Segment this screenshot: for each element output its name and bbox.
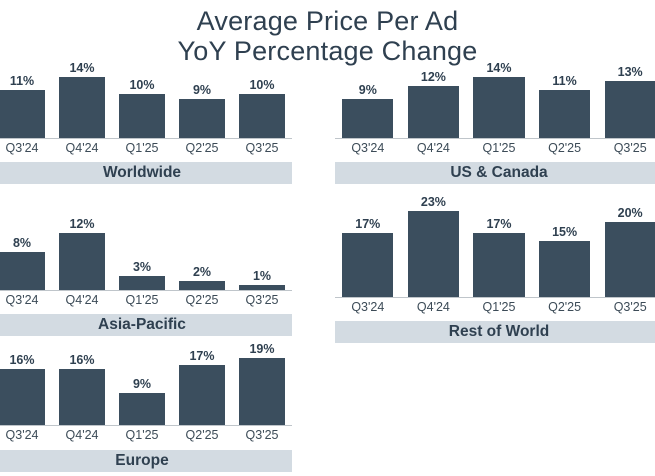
axis-line — [335, 138, 655, 139]
bar-value-label: 9% — [335, 83, 401, 97]
region-banner-rest-of-world: Rest of World — [335, 321, 655, 343]
bar-value-label: 23% — [401, 195, 467, 209]
bar-slot[interactable]: 16% — [52, 346, 112, 425]
bar-rect[interactable] — [119, 94, 166, 138]
x-tick-label: Q1'25 — [112, 140, 172, 156]
bar-slot[interactable]: 9% — [172, 66, 232, 138]
page-title: Average Price Per Ad YoY Percentage Chan… — [0, 6, 655, 66]
bar-value-label: 3% — [112, 260, 172, 274]
bar-slot[interactable]: 2% — [172, 212, 232, 290]
x-tick-label: Q2'25 — [172, 427, 232, 443]
plot-area-worldwide: 11% 14% 10% 9% 10% — [0, 66, 292, 138]
x-tick-label: Q3'24 — [0, 427, 52, 443]
bar-value-label: 17% — [335, 217, 401, 231]
x-tick-label: Q1'25 — [112, 427, 172, 443]
bar-slot[interactable]: 11% — [532, 66, 598, 138]
x-tick-label: Q3'24 — [0, 140, 52, 156]
bar-rect[interactable] — [179, 99, 226, 138]
axis-line — [0, 290, 292, 291]
bar-rect[interactable] — [473, 233, 524, 297]
bar-slot[interactable]: 9% — [335, 66, 401, 138]
bar-value-label: 10% — [112, 78, 172, 92]
region-banner-us-canada: US & Canada — [335, 162, 655, 184]
bar-value-label: 19% — [232, 342, 292, 356]
bar-value-label: 14% — [52, 61, 112, 75]
bar-value-label: 17% — [466, 217, 532, 231]
bar-rect[interactable] — [408, 211, 459, 297]
panel-rest-of-world: 17% 23% 17% 15% 20% — [335, 196, 655, 336]
bar-rect[interactable] — [539, 241, 590, 297]
region-banner-asia-pacific: Asia-Pacific — [0, 314, 292, 336]
x-tick-label: Q4'24 — [52, 427, 112, 443]
x-tick-label: Q3'25 — [597, 299, 655, 315]
axis-line — [335, 297, 655, 298]
x-tick-label: Q1'25 — [112, 292, 172, 308]
bar-rect[interactable] — [342, 233, 393, 297]
bar-value-label: 11% — [532, 74, 598, 88]
bar-slot[interactable]: 19% — [232, 346, 292, 425]
x-tick-label: Q4'24 — [52, 140, 112, 156]
bar-slot[interactable]: 3% — [112, 212, 172, 290]
bar-value-label: 16% — [52, 353, 112, 367]
chart-root: Average Price Per Ad YoY Percentage Chan… — [0, 0, 655, 476]
bar-slot[interactable]: 13% — [597, 66, 655, 138]
bar-rect[interactable] — [59, 369, 106, 425]
x-tick-label: Q2'25 — [172, 292, 232, 308]
bar-rect[interactable] — [0, 90, 45, 138]
bar-slot[interactable]: 17% — [172, 346, 232, 425]
bar-group-rest-of-world: 17% 23% 17% 15% 20% — [335, 196, 655, 297]
x-axis-tick-labels: Q3'24 Q4'24 Q1'25 Q2'25 Q3'25 — [0, 427, 292, 443]
bar-rect[interactable] — [0, 369, 45, 425]
bar-slot[interactable]: 11% — [0, 66, 52, 138]
bar-value-label: 8% — [0, 236, 52, 250]
x-tick-label: Q3'25 — [232, 292, 292, 308]
bar-rect[interactable] — [179, 365, 226, 425]
bar-value-label: 12% — [52, 217, 112, 231]
x-tick-label: Q2'25 — [532, 299, 598, 315]
bar-slot[interactable]: 14% — [466, 66, 532, 138]
axis-line — [0, 425, 292, 426]
bar-rect[interactable] — [119, 276, 166, 290]
region-banner-worldwide: Worldwide — [0, 162, 292, 184]
bar-rect[interactable] — [539, 90, 590, 138]
bar-slot[interactable]: 10% — [112, 66, 172, 138]
panel-asia-pacific: 8% 12% 3% 2% 1% — [0, 212, 292, 336]
bar-value-label: 20% — [597, 206, 655, 220]
bar-slot[interactable]: 8% — [0, 212, 52, 290]
bar-slot[interactable]: 14% — [52, 66, 112, 138]
x-tick-label: Q3'24 — [335, 299, 401, 315]
bar-slot[interactable]: 20% — [597, 196, 655, 297]
bar-rect[interactable] — [473, 77, 524, 138]
plot-area-europe: 16% 16% 9% 17% 19% — [0, 346, 292, 425]
bar-slot[interactable]: 10% — [232, 66, 292, 138]
bar-value-label: 15% — [532, 225, 598, 239]
x-axis-tick-labels: Q3'24 Q4'24 Q1'25 Q2'25 Q3'25 — [0, 292, 292, 308]
bar-group-us-canada: 9% 12% 14% 11% 13% — [335, 66, 655, 138]
plot-area-asia-pacific: 8% 12% 3% 2% 1% — [0, 212, 292, 290]
panel-worldwide: 11% 14% 10% 9% 10% — [0, 66, 292, 184]
region-banner-europe: Europe — [0, 450, 292, 472]
panel-europe: 16% 16% 9% 17% 19% — [0, 346, 292, 476]
axis-line — [0, 138, 292, 139]
bar-rect[interactable] — [342, 99, 393, 138]
bar-value-label: 13% — [597, 65, 655, 79]
bar-value-label: 12% — [401, 70, 467, 84]
x-tick-label: Q3'25 — [232, 427, 292, 443]
bar-rect[interactable] — [0, 252, 45, 290]
bar-slot[interactable]: 15% — [532, 196, 598, 297]
x-axis-tick-labels: Q3'24 Q4'24 Q1'25 Q2'25 Q3'25 — [0, 140, 292, 156]
panel-us-canada: 9% 12% 14% 11% 13% — [335, 66, 655, 184]
x-tick-label: Q2'25 — [532, 140, 598, 156]
bar-value-label: 2% — [172, 265, 232, 279]
bar-group-worldwide: 11% 14% 10% 9% 10% — [0, 66, 292, 138]
x-axis-tick-labels: Q3'24 Q4'24 Q1'25 Q2'25 Q3'25 — [335, 140, 655, 156]
bar-value-label: 17% — [172, 349, 232, 363]
bar-group-europe: 16% 16% 9% 17% 19% — [0, 346, 292, 425]
x-tick-label: Q3'25 — [597, 140, 655, 156]
bar-slot[interactable]: 23% — [401, 196, 467, 297]
bar-rect[interactable] — [605, 222, 655, 297]
bar-rect[interactable] — [239, 358, 286, 425]
bar-slot[interactable]: 12% — [52, 212, 112, 290]
bar-rect[interactable] — [179, 281, 226, 290]
bar-value-label: 16% — [0, 353, 52, 367]
bar-slot[interactable]: 1% — [232, 212, 292, 290]
bar-rect[interactable] — [408, 86, 459, 138]
x-axis-tick-labels: Q3'24 Q4'24 Q1'25 Q2'25 Q3'25 — [335, 299, 655, 315]
x-tick-label: Q4'24 — [401, 299, 467, 315]
x-tick-label: Q1'25 — [466, 299, 532, 315]
x-tick-label: Q2'25 — [172, 140, 232, 156]
plot-area-rest-of-world: 17% 23% 17% 15% 20% — [335, 196, 655, 297]
bar-rect[interactable] — [119, 393, 166, 425]
bar-value-label: 11% — [0, 74, 52, 88]
bar-slot[interactable]: 17% — [335, 196, 401, 297]
bar-slot[interactable]: 17% — [466, 196, 532, 297]
bar-value-label: 9% — [172, 83, 232, 97]
bar-rect[interactable] — [59, 77, 106, 138]
x-tick-label: Q3'24 — [335, 140, 401, 156]
bar-rect[interactable] — [605, 81, 655, 138]
bar-slot[interactable]: 9% — [112, 346, 172, 425]
x-tick-label: Q3'24 — [0, 292, 52, 308]
bar-slot[interactable]: 16% — [0, 346, 52, 425]
bar-rect[interactable] — [239, 94, 286, 138]
bar-value-label: 9% — [112, 377, 172, 391]
page-title-line-1: Average Price Per Ad — [0, 6, 655, 36]
bar-value-label: 14% — [466, 61, 532, 75]
x-tick-label: Q1'25 — [466, 140, 532, 156]
bar-value-label: 10% — [232, 78, 292, 92]
bar-slot[interactable]: 12% — [401, 66, 467, 138]
bar-rect[interactable] — [59, 233, 106, 290]
bar-group-asia-pacific: 8% 12% 3% 2% 1% — [0, 212, 292, 290]
x-tick-label: Q4'24 — [401, 140, 467, 156]
bar-value-label: 1% — [232, 269, 292, 283]
x-tick-label: Q4'24 — [52, 292, 112, 308]
x-tick-label: Q3'25 — [232, 140, 292, 156]
plot-area-us-canada: 9% 12% 14% 11% 13% — [335, 66, 655, 138]
